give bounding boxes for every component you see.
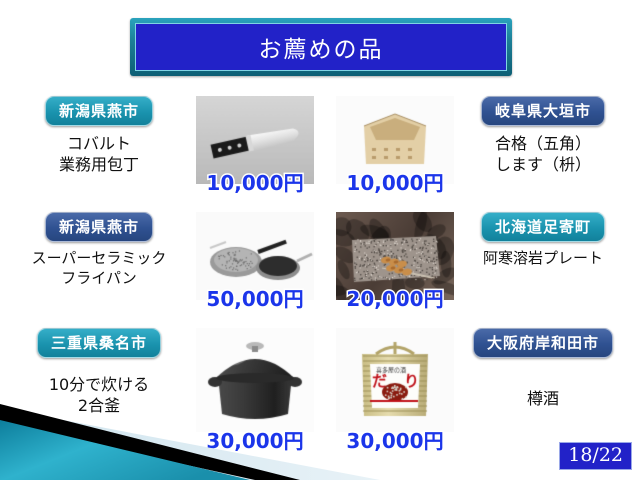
item-text-block: 新潟県燕市 スーパーセラミック フライパン	[8, 212, 190, 289]
price-label: 50,000円	[196, 283, 314, 312]
item-description: コバルト 業務用包丁	[8, 133, 190, 175]
black-rice-pot-image	[196, 328, 314, 432]
product-photo	[196, 328, 314, 432]
slide-canvas: お薦めの品 新潟県燕市 コバルト 業務用包丁 岐阜県大垣市 合格（五角） します…	[0, 0, 640, 480]
sake-barrel-image	[336, 328, 454, 432]
region-badge: 新潟県燕市	[45, 212, 153, 242]
region-badge: 岐阜県大垣市	[481, 96, 605, 126]
item-description: 樽酒	[452, 388, 634, 409]
item-text-block: 三重県桑名市 10分で炊ける 2合釜	[8, 328, 190, 416]
item-description-line: 2合釜	[8, 395, 190, 416]
item-description-line: 10分で炊ける	[8, 374, 190, 395]
region-badge: 北海道足寄町	[481, 212, 605, 242]
slide-title-inner: お薦めの品	[135, 23, 507, 71]
region-badge: 新潟県燕市	[45, 96, 153, 126]
item-description: 合格（五角） します（枡）	[452, 133, 634, 175]
page-title: お薦めの品	[259, 30, 384, 64]
price-label: 10,000円	[196, 167, 314, 196]
item-description: 10分で炊ける 2合釜	[8, 374, 190, 416]
region-badge: 大阪府岸和田市	[473, 328, 613, 358]
product-row: 三重県桑名市 10分で炊ける 2合釜 大阪府岸和田市 樽酒	[0, 328, 640, 446]
price-label: 10,000円	[336, 167, 454, 196]
page-number-badge: 18/22	[559, 442, 632, 470]
price-label: 20,000円	[336, 283, 454, 312]
item-description: スーパーセラミック フライパン	[8, 249, 190, 289]
region-badge: 三重県桑名市	[37, 328, 161, 358]
product-row: 新潟県燕市 スーパーセラミック フライパン 北海道足寄町 阿寒溶岩プレート	[0, 212, 640, 316]
item-description-line: 樽酒	[452, 388, 634, 409]
item-description-line: 合格（五角）	[452, 133, 634, 154]
item-description-line: フライパン	[8, 269, 190, 289]
product-row: 新潟県燕市 コバルト 業務用包丁 岐阜県大垣市 合格（五角） します（枡）	[0, 96, 640, 200]
item-description-line: 業務用包丁	[8, 154, 190, 175]
price-label: 30,000円	[196, 425, 314, 454]
slide-title-banner: お薦めの品	[130, 18, 512, 76]
price-label: 30,000円	[336, 425, 454, 454]
item-description: 阿寒溶岩プレート	[452, 249, 634, 269]
item-description-line: コバルト	[8, 133, 190, 154]
item-text-block: 北海道足寄町 阿寒溶岩プレート	[452, 212, 634, 269]
item-text-block: 岐阜県大垣市 合格（五角） します（枡）	[452, 96, 634, 175]
item-text-block: 新潟県燕市 コバルト 業務用包丁	[8, 96, 190, 175]
item-description-line: スーパーセラミック	[8, 249, 190, 269]
item-description-line: 阿寒溶岩プレート	[452, 249, 634, 269]
product-photo	[336, 328, 454, 432]
item-description-line: します（枡）	[452, 154, 634, 175]
item-text-block: 大阪府岸和田市 樽酒	[452, 328, 634, 409]
